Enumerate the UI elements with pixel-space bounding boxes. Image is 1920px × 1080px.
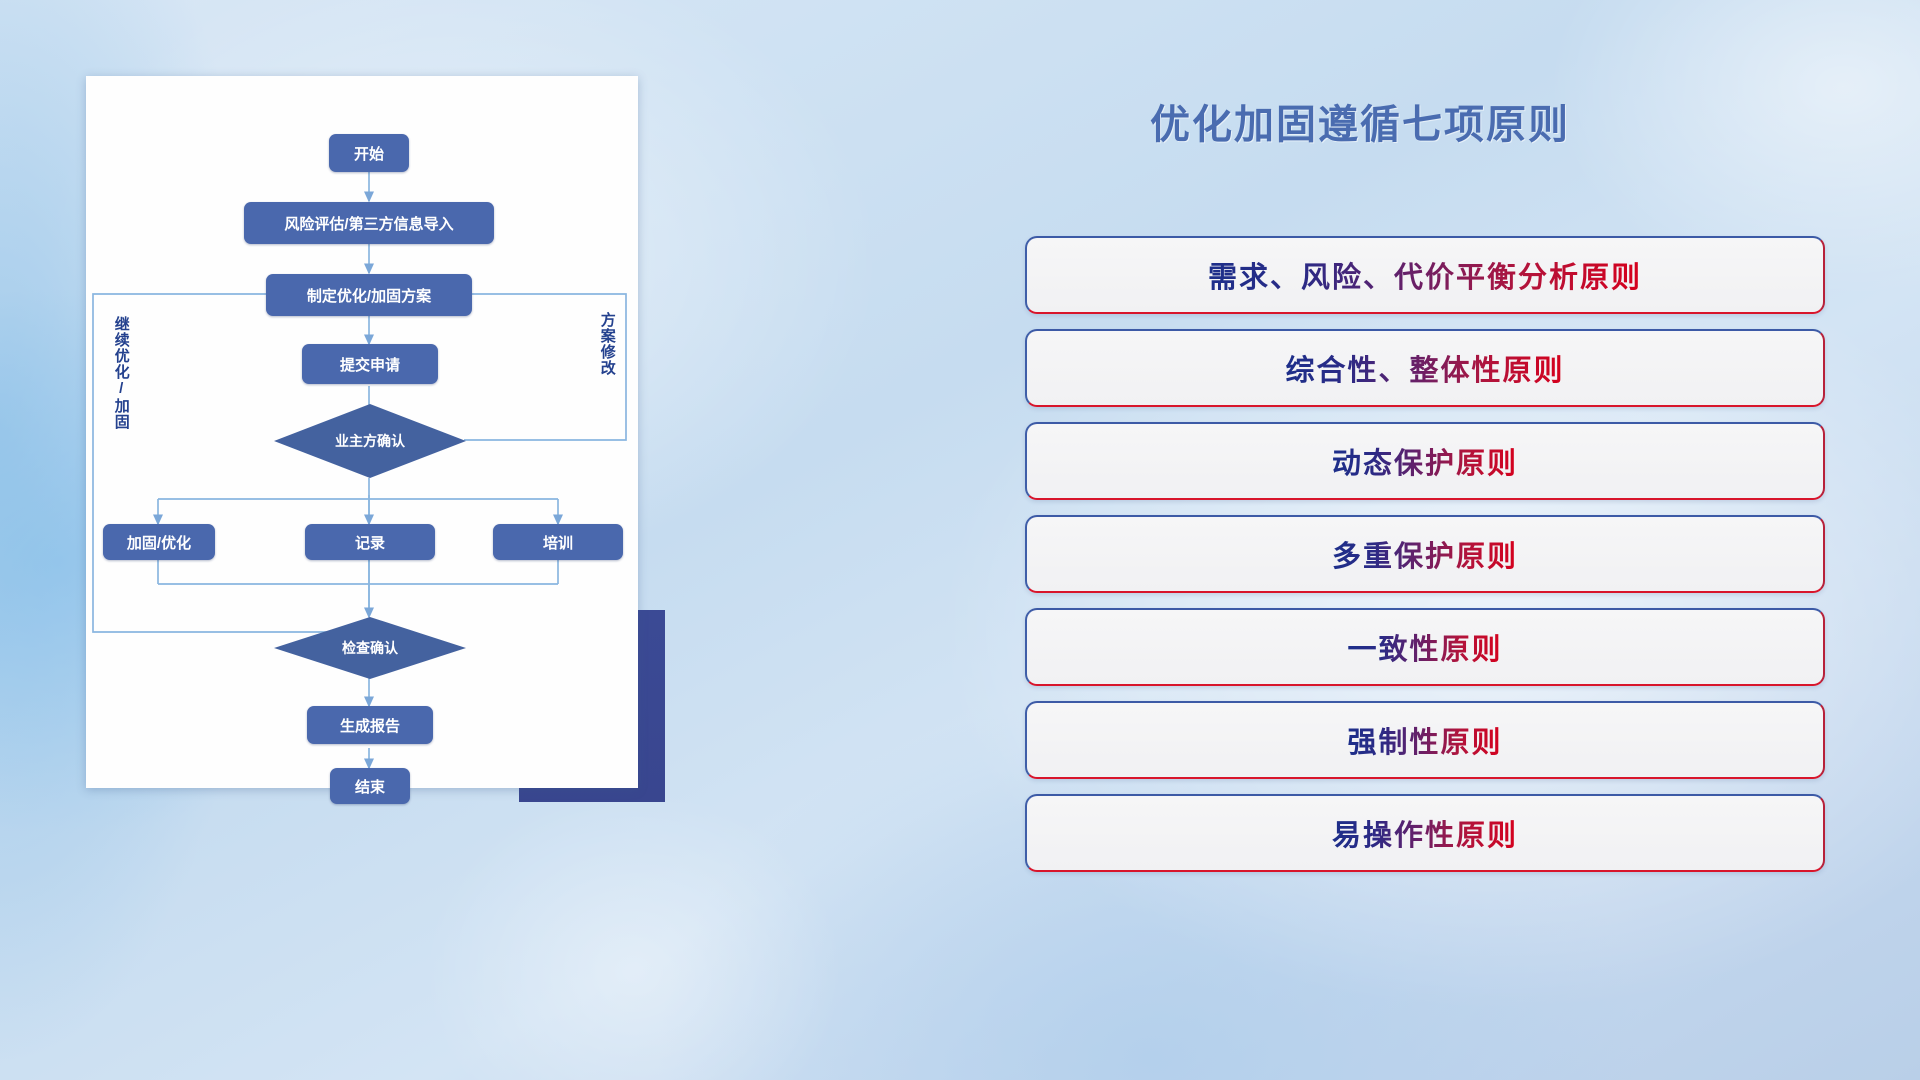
principle-card-4[interactable]: 多重保护原则 xyxy=(1025,515,1825,593)
flow-node-risk-assessment[interactable]: 风险评估/第三方信息导入 xyxy=(244,202,494,244)
flow-node-training[interactable]: 培训 xyxy=(493,524,623,560)
flow-node-label: 制定优化/加固方案 xyxy=(307,285,431,306)
flow-node-label: 结束 xyxy=(355,776,385,797)
principle-label: 动态保护原则 xyxy=(1332,440,1518,482)
flowchart-canvas: 开始 风险评估/第三方信息导入 制定优化/加固方案 提交申请 业主方确认 加固/… xyxy=(86,76,638,788)
principle-label: 综合性、整体性原则 xyxy=(1285,347,1564,389)
flow-node-label: 生成报告 xyxy=(340,715,400,736)
principle-label: 多重保护原则 xyxy=(1332,533,1518,575)
principle-label: 一致性原则 xyxy=(1347,626,1502,668)
flow-node-label: 检查确认 xyxy=(342,638,398,658)
flow-edge-label-continue-optimize: 继续优化/加固 xyxy=(113,316,129,430)
flow-node-record[interactable]: 记录 xyxy=(305,524,435,560)
flow-edge-label-plan-revision: 方案修改 xyxy=(599,312,615,376)
principle-card-1[interactable]: 需求、风险、代价平衡分析原则 xyxy=(1025,236,1825,314)
flow-node-plan[interactable]: 制定优化/加固方案 xyxy=(266,274,472,316)
principle-card-2[interactable]: 综合性、整体性原则 xyxy=(1025,329,1825,407)
flow-node-label: 业主方确认 xyxy=(335,431,405,451)
principle-card-5[interactable]: 一致性原则 xyxy=(1025,608,1825,686)
flow-node-start[interactable]: 开始 xyxy=(329,134,409,172)
principle-card-7[interactable]: 易操作性原则 xyxy=(1025,794,1825,872)
flow-node-end[interactable]: 结束 xyxy=(330,768,410,804)
principle-label: 易操作性原则 xyxy=(1332,812,1518,854)
flowchart-panel: 开始 风险评估/第三方信息导入 制定优化/加固方案 提交申请 业主方确认 加固/… xyxy=(86,76,638,788)
flow-node-label: 培训 xyxy=(543,532,573,553)
flow-node-label: 提交申请 xyxy=(340,354,400,375)
principle-card-6[interactable]: 强制性原则 xyxy=(1025,701,1825,779)
flow-node-label: 风险评估/第三方信息导入 xyxy=(284,213,453,234)
principle-label: 需求、风险、代价平衡分析原则 xyxy=(1208,254,1642,296)
principle-label: 强制性原则 xyxy=(1347,719,1502,761)
flow-node-reinforce-optimize[interactable]: 加固/优化 xyxy=(103,524,215,560)
flow-node-generate-report[interactable]: 生成报告 xyxy=(307,706,433,744)
page-title: 优化加固遵循七项原则 xyxy=(1150,92,1670,150)
principle-card-3[interactable]: 动态保护原则 xyxy=(1025,422,1825,500)
principles-list: 需求、风险、代价平衡分析原则 综合性、整体性原则 动态保护原则 多重保护原则 一… xyxy=(1025,236,1825,887)
flow-node-submit-application[interactable]: 提交申请 xyxy=(302,344,438,384)
flow-node-label: 开始 xyxy=(354,143,384,164)
flow-node-label: 记录 xyxy=(355,532,385,553)
flow-node-label: 加固/优化 xyxy=(127,532,191,553)
